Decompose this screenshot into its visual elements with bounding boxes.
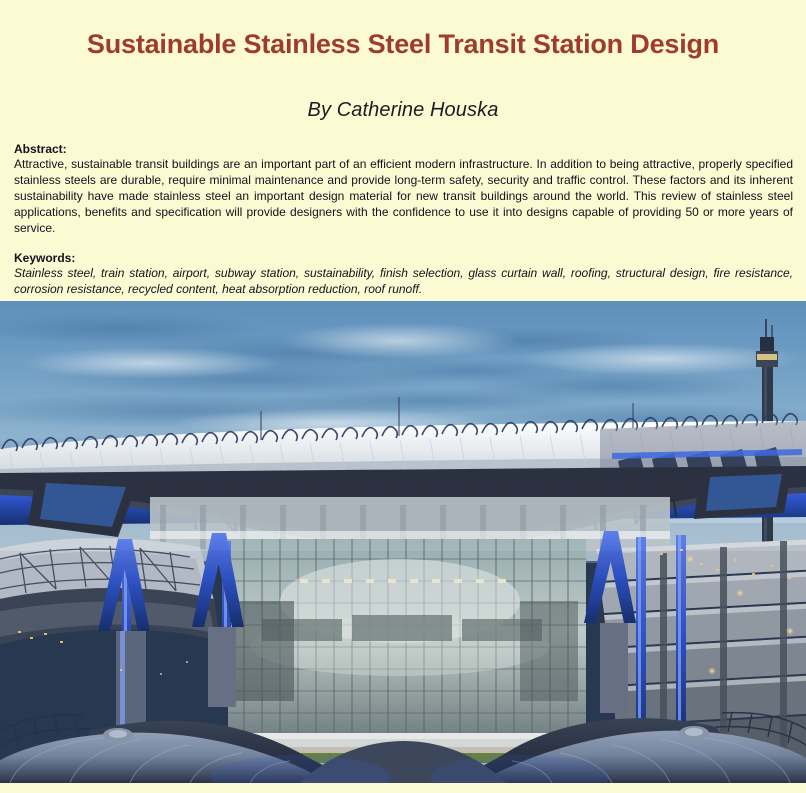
page-bottom-margin bbox=[0, 783, 806, 793]
transit-station-photograph bbox=[0, 301, 806, 783]
page-title: Sustainable Stainless Steel Transit Stat… bbox=[0, 18, 806, 60]
keywords-label: Keywords: bbox=[14, 250, 793, 266]
keywords-text: Stainless steel, train station, airport,… bbox=[14, 266, 793, 298]
author-byline: By Catherine Houska bbox=[0, 78, 806, 122]
keywords-block: Keywords: Stainless steel, train station… bbox=[14, 250, 793, 298]
paper-page: Sustainable Stainless Steel Transit Stat… bbox=[0, 18, 806, 793]
abstract-block: Abstract: Attractive, sustainable transi… bbox=[14, 141, 793, 237]
text-column: Abstract: Attractive, sustainable transi… bbox=[0, 122, 806, 298]
abstract-label: Abstract: bbox=[14, 141, 793, 157]
abstract-text: Attractive, sustainable transit building… bbox=[14, 157, 793, 237]
